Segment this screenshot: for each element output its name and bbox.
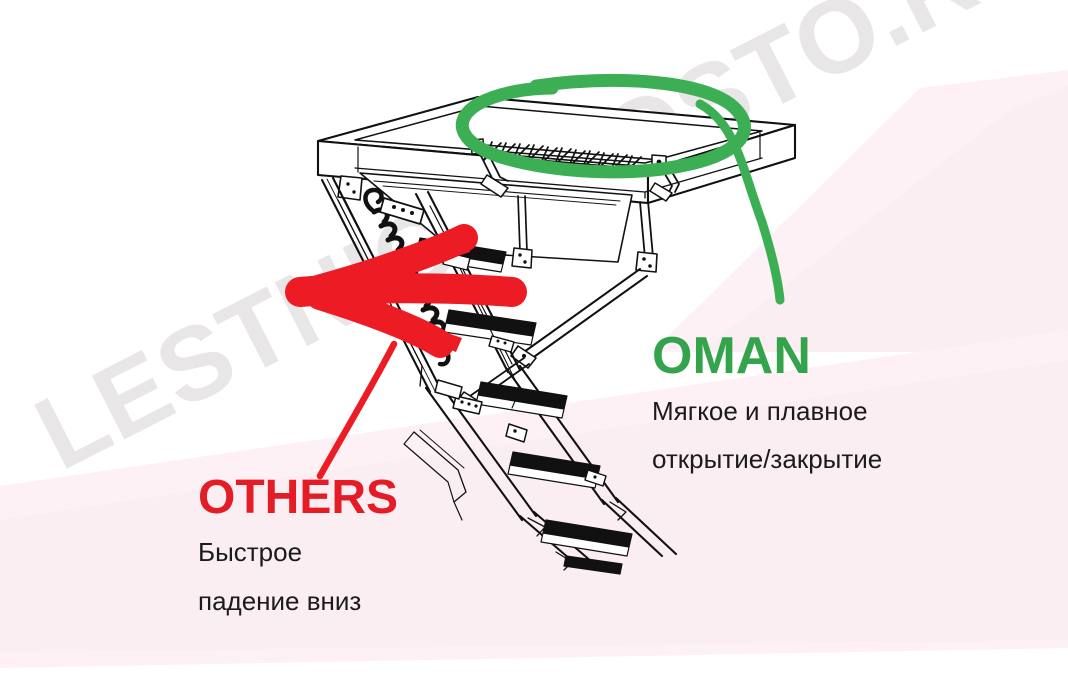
callout-others: OTHERS Быстрое падение вниз	[198, 474, 398, 620]
illustration-canvas: LESTNIC-PROSTO.RU	[0, 0, 1068, 682]
green-circle-marker	[462, 80, 780, 300]
callout-oman-subtitle-line-1: Мягкое и плавное	[652, 394, 882, 430]
red-arrow-marker	[298, 236, 512, 476]
callout-others-subtitle-line-1: Быстрое	[198, 535, 398, 571]
marker-annotations	[0, 0, 1068, 682]
callout-others-title: OTHERS	[198, 474, 398, 522]
callout-oman-subtitle-line-2: открытие/закрытие	[652, 442, 882, 478]
callout-oman: OMAN Мягкое и плавное открытие/закрытие	[652, 330, 882, 478]
callout-others-subtitle-line-2: падение вниз	[198, 584, 398, 620]
callout-oman-title: OMAN	[652, 330, 882, 382]
